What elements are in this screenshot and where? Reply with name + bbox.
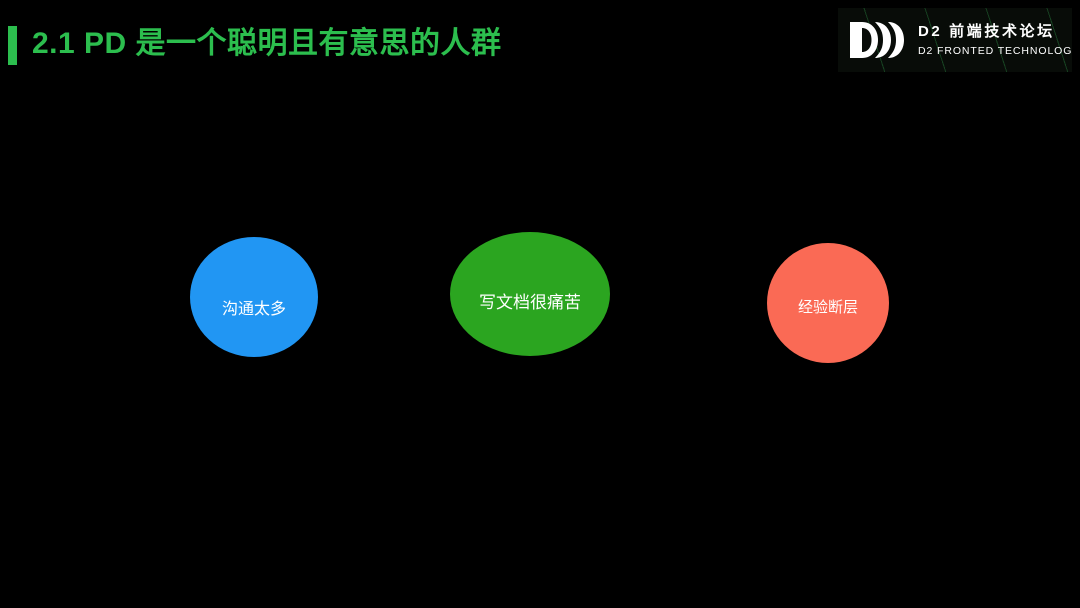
bubble-label: 沟通太多: [222, 295, 286, 319]
bubble-label: 写文档很痛苦: [479, 288, 581, 313]
bubble-docs: 写文档很痛苦: [450, 232, 610, 356]
slide-canvas: 2.1 PD 是一个聪明且有意思的人群 D2 前端技术论坛 D2 FRO: [0, 0, 1080, 608]
bubble-diagram: 沟通太多 写文档很痛苦 经验断层: [0, 0, 1080, 608]
bubble-communication: 沟通太多: [190, 237, 318, 357]
bubble-experience: 经验断层: [767, 243, 889, 363]
bubble-label: 经验断层: [798, 296, 858, 317]
